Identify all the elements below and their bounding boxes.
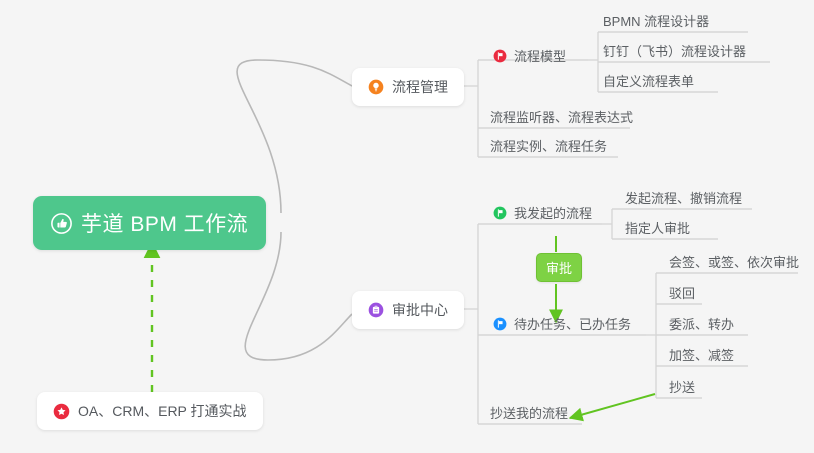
flag-icon <box>493 49 507 63</box>
node-add-remove-sign[interactable]: 加签、减签 <box>669 345 734 364</box>
node-countersign-orsign-sequential-label: 会签、或签、依次审批 <box>669 252 799 271</box>
node-dingtalk-feishu-designer-label: 钉钉（飞书）流程设计器 <box>603 41 746 60</box>
node-custom-process-form[interactable]: 自定义流程表单 <box>603 71 694 90</box>
node-start-cancel-process-label: 发起流程、撤销流程 <box>625 188 742 207</box>
mindmap-canvas: 芋道 BPM 工作流 流程管理 流程模型 BPMN 流程设计器 钉钉（飞书）流 <box>0 0 814 453</box>
node-countersign-orsign-sequential[interactable]: 会签、或签、依次审批 <box>669 252 799 271</box>
node-my-initiated-process[interactable]: 我发起的流程 <box>493 203 592 222</box>
node-process-model-label: 流程模型 <box>514 46 566 65</box>
approval-badge[interactable]: 审批 <box>536 253 582 282</box>
node-process-management-label: 流程管理 <box>392 77 448 97</box>
node-my-initiated-process-label: 我发起的流程 <box>514 203 592 222</box>
node-assignee-approval-label: 指定人审批 <box>625 218 690 237</box>
clipboard-icon <box>368 302 384 318</box>
node-dingtalk-feishu-designer[interactable]: 钉钉（飞书）流程设计器 <box>603 41 746 60</box>
flag-icon <box>493 206 507 220</box>
node-approval-center-label: 审批中心 <box>392 300 448 320</box>
root-node[interactable]: 芋道 BPM 工作流 <box>33 196 266 250</box>
connector-root-to-process-management <box>237 60 352 213</box>
node-todo-done-tasks-label: 待办任务、已办任务 <box>514 314 631 333</box>
node-delegate-transfer[interactable]: 委派、转办 <box>669 314 734 333</box>
node-add-remove-sign-label: 加签、减签 <box>669 345 734 364</box>
node-process-model[interactable]: 流程模型 <box>493 46 566 65</box>
node-reject-label: 驳回 <box>669 283 695 302</box>
thumbs-up-icon <box>51 213 72 234</box>
node-process-listener-expression[interactable]: 流程监听器、流程表达式 <box>490 107 633 126</box>
node-cc-to-me-process-label: 抄送我的流程 <box>490 403 568 422</box>
node-oa-crm-erp[interactable]: OA、CRM、ERP 打通实战 <box>37 392 263 430</box>
node-cc-to-me-process[interactable]: 抄送我的流程 <box>490 403 568 422</box>
lightbulb-icon <box>368 79 384 95</box>
node-assignee-approval[interactable]: 指定人审批 <box>625 218 690 237</box>
node-reject[interactable]: 驳回 <box>669 283 695 302</box>
node-process-instance-task-label: 流程实例、流程任务 <box>490 136 607 155</box>
star-icon <box>53 403 70 420</box>
node-oa-crm-erp-label: OA、CRM、ERP 打通实战 <box>78 401 247 421</box>
approval-badge-label: 审批 <box>546 261 572 276</box>
node-process-listener-expression-label: 流程监听器、流程表达式 <box>490 107 633 126</box>
node-bpmn-designer-label: BPMN 流程设计器 <box>603 11 709 30</box>
node-bpmn-designer[interactable]: BPMN 流程设计器 <box>603 11 709 30</box>
connector-root-to-approval-center <box>245 232 352 360</box>
node-delegate-transfer-label: 委派、转办 <box>669 314 734 333</box>
node-process-instance-task[interactable]: 流程实例、流程任务 <box>490 136 607 155</box>
node-todo-done-tasks[interactable]: 待办任务、已办任务 <box>493 314 631 333</box>
node-start-cancel-process[interactable]: 发起流程、撤销流程 <box>625 188 742 207</box>
node-custom-process-form-label: 自定义流程表单 <box>603 71 694 90</box>
node-carbon-copy[interactable]: 抄送 <box>669 377 695 396</box>
root-label: 芋道 BPM 工作流 <box>81 208 248 238</box>
node-carbon-copy-label: 抄送 <box>669 377 695 396</box>
node-process-management[interactable]: 流程管理 <box>352 68 464 106</box>
flag-icon <box>493 317 507 331</box>
node-approval-center[interactable]: 审批中心 <box>352 291 464 329</box>
connector-cc-to-ccme-arrow <box>570 394 655 418</box>
